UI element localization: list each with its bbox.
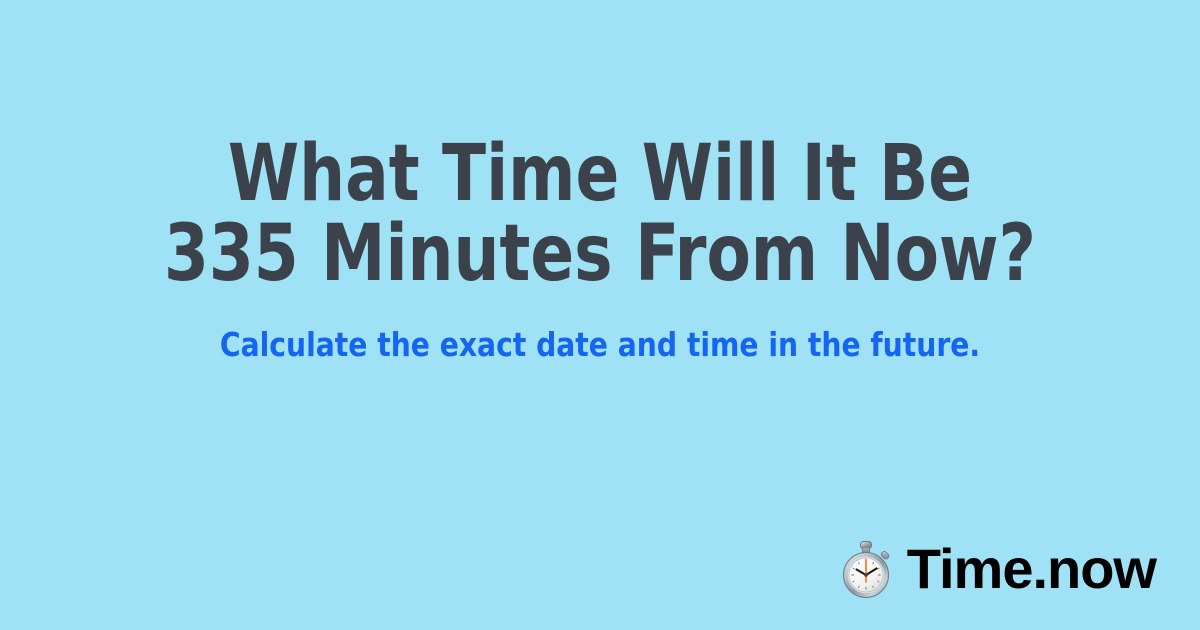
brand-name: Time.now [907,540,1156,598]
subtitle: Calculate the exact date and time in the… [30,326,1170,364]
brand-lockup[interactable]: Time.now [839,540,1156,598]
page-title: What Time Will It Be 335 Minutes From No… [48,134,1152,294]
headline-line-1: What Time Will It Be [48,134,1152,214]
share-card: What Time Will It Be 335 Minutes From No… [0,0,1200,630]
stopwatch-icon [839,540,893,598]
headline-line-2: 335 Minutes From Now? [48,214,1152,294]
